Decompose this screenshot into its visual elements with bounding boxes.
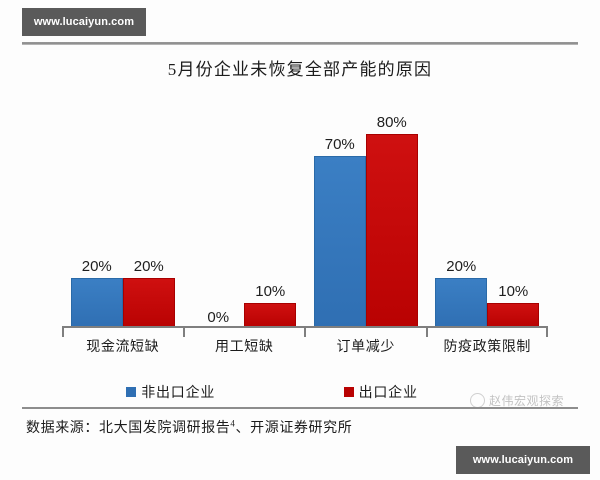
chart-plot-area: 20% 20% 0% 10%: [62, 100, 548, 328]
legend-item-export[interactable]: 出口企业: [344, 382, 418, 402]
bar-slot: 10%: [244, 100, 296, 328]
bar-value-label: 0%: [207, 309, 229, 326]
legend-swatch-icon: [344, 387, 354, 397]
watermark-chip-bottom: www.lucaiyun.com: [456, 446, 590, 474]
bar-value-label: 10%: [498, 283, 528, 300]
legend-label: 非出口企业: [141, 382, 215, 402]
bar-non-export-0[interactable]: 20%: [71, 278, 123, 328]
source-note: 数据来源：北大国发院调研报告4、开源证券研究所: [26, 417, 352, 437]
bar-slot: 0%: [192, 100, 244, 328]
source-suffix: 、开源证券研究所: [236, 421, 353, 436]
chart-title: 5月份企业未恢复全部产能的原因: [0, 55, 600, 80]
x-axis-label-0: 现金流短缺: [62, 336, 184, 356]
bar-export-1[interactable]: 10%: [244, 303, 296, 328]
bar-slot: 70%: [314, 100, 366, 328]
bar-group-cash-flow: 20% 20%: [62, 100, 184, 328]
x-axis-category-labels: 现金流短缺 用工短缺 订单减少 防疫政策限制: [62, 336, 548, 356]
chart-page: www.lucaiyun.com 5月份企业未恢复全部产能的原因 20% 20%: [0, 0, 600, 480]
circle-logo-icon: [470, 393, 485, 408]
bar-group-labor-shortage: 0% 10%: [184, 100, 306, 328]
bar-export-2[interactable]: 80%: [366, 134, 418, 328]
bar-value-label: 80%: [377, 114, 407, 131]
bar-group-epidemic-policy: 20% 10%: [427, 100, 549, 328]
watermark-chip-top: www.lucaiyun.com: [22, 8, 146, 36]
x-axis-label-2: 订单减少: [305, 336, 427, 356]
legend-label: 出口企业: [359, 382, 418, 402]
bar-value-label: 20%: [134, 258, 164, 275]
bar-export-0[interactable]: 20%: [123, 278, 175, 328]
legend-item-non-export[interactable]: 非出口企业: [126, 382, 215, 402]
bar-value-label: 20%: [82, 258, 112, 275]
bar-value-label: 70%: [325, 136, 355, 153]
header-divider: [22, 42, 578, 45]
x-axis-label-3: 防疫政策限制: [427, 336, 549, 356]
bar-slot: 20%: [71, 100, 123, 328]
bar-slot: 10%: [487, 100, 539, 328]
bar-groups: 20% 20% 0% 10%: [62, 100, 548, 328]
x-axis-label-1: 用工短缺: [184, 336, 306, 356]
legend-swatch-icon: [126, 387, 136, 397]
bar-slot: 20%: [123, 100, 175, 328]
bar-slot: 80%: [366, 100, 418, 328]
source-text: 北大国发院调研报告: [99, 421, 230, 436]
source-prefix: 数据来源：: [26, 421, 99, 436]
footer-divider: [22, 407, 578, 409]
bar-slot: 20%: [435, 100, 487, 328]
chart-legend: 非出口企业 出口企业: [62, 382, 482, 402]
bar-non-export-2[interactable]: 70%: [314, 156, 366, 328]
bar-export-3[interactable]: 10%: [487, 303, 539, 328]
bar-group-order-decline: 70% 80%: [305, 100, 427, 328]
bar-value-label: 20%: [446, 258, 476, 275]
bar-value-label: 10%: [255, 283, 285, 300]
bar-non-export-3[interactable]: 20%: [435, 278, 487, 328]
